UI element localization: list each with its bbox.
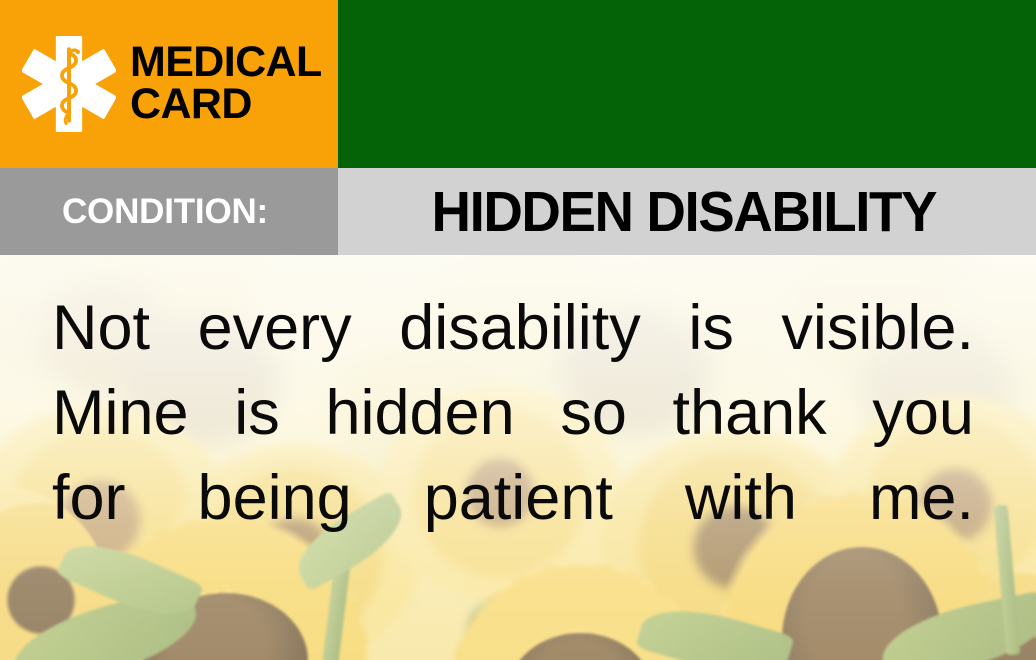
brand-title-line1: MEDICAL — [130, 42, 322, 84]
condition-label-cell: CONDITION: — [0, 168, 338, 255]
condition-bar: CONDITION: HIDDEN DISABILITY — [0, 168, 1036, 255]
message-word: Not — [52, 286, 150, 371]
message-word: patient — [424, 456, 613, 541]
message-word: so — [560, 371, 627, 456]
message-word: every — [198, 286, 352, 371]
condition-label: CONDITION: — [62, 192, 268, 232]
message-word: Mine — [52, 371, 189, 456]
brand-block: MEDICAL CARD — [0, 0, 338, 168]
message-word: you — [872, 371, 974, 456]
brand-title: MEDICAL CARD — [130, 42, 322, 125]
message-line-1: Not every disability is visible. — [52, 286, 974, 371]
medical-card: MEDICAL CARD CONDITION: HIDDEN DISABILIT… — [0, 0, 1036, 660]
brand-title-line2: CARD — [130, 84, 322, 126]
message-word: for — [52, 456, 126, 541]
message-text: Not every disability is visible. Mine is… — [52, 286, 974, 541]
message-word: is — [688, 286, 734, 371]
message-word: with — [685, 456, 797, 541]
card-header: MEDICAL CARD — [0, 0, 1036, 168]
header-green-panel — [338, 0, 1036, 168]
message-line-2: Mine is hidden so thank you — [52, 371, 974, 456]
message-line-3: for being patient with me. — [52, 456, 974, 541]
message-word: hidden — [325, 371, 514, 456]
message-word: disability — [399, 286, 641, 371]
star-of-life-icon — [22, 34, 116, 134]
message-word: visible. — [781, 286, 974, 371]
condition-value: HIDDEN DISABILITY — [432, 179, 937, 245]
condition-value-cell: HIDDEN DISABILITY — [338, 168, 1036, 255]
message-word: being — [198, 456, 352, 541]
message-word: is — [234, 371, 280, 456]
message-word: me. — [869, 456, 974, 541]
snake-head-icon — [76, 50, 80, 54]
message-word: thank — [673, 371, 827, 456]
